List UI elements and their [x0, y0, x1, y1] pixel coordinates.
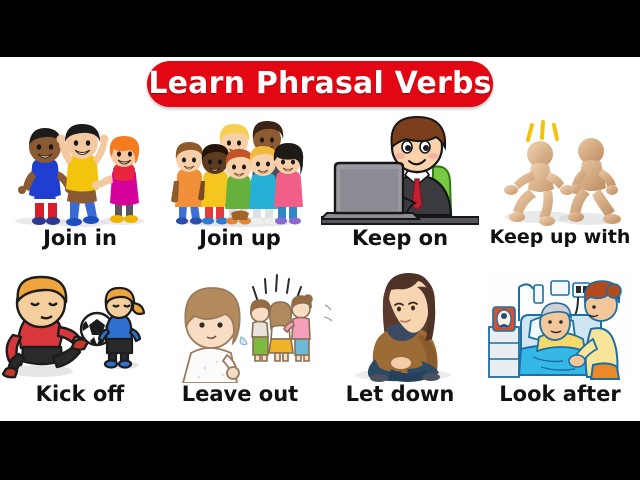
caregiver-patient-illustration	[481, 265, 639, 383]
title-banner: Learn Phrasal Verbs	[147, 61, 493, 107]
letterbox-bottom	[0, 421, 640, 480]
card-leave-out[interactable]: Leave out	[160, 265, 320, 421]
card-label: Keep on	[352, 228, 448, 249]
card-label: Join up	[199, 228, 281, 249]
phrasal-verb-grid: Join in	[0, 109, 640, 421]
two-mannequins-walking-illustration	[481, 109, 639, 227]
poster-canvas: Learn Phrasal Verbs	[0, 57, 640, 421]
card-keep-up-with[interactable]: Keep up with	[480, 109, 640, 265]
card-keep-on[interactable]: Keep on	[320, 109, 480, 265]
card-join-up[interactable]: Join up	[160, 109, 320, 265]
card-join-in[interactable]: Join in	[0, 109, 160, 265]
card-kick-off[interactable]: Kick off	[0, 265, 160, 421]
card-label: Look after	[499, 384, 620, 405]
card-label: Let down	[346, 384, 455, 405]
boy-kicking-ball-illustration	[1, 265, 159, 383]
card-look-after[interactable]: Look after	[480, 265, 640, 421]
card-label: Leave out	[182, 384, 298, 405]
letterbox-top	[0, 0, 640, 57]
poster-stage: Learn Phrasal Verbs	[0, 0, 640, 480]
girl-excluded-illustration	[161, 265, 319, 383]
card-label: Keep up with	[490, 228, 631, 247]
page-title: Learn Phrasal Verbs	[148, 69, 491, 99]
card-label: Kick off	[36, 384, 125, 405]
businessman-laptop-illustration	[321, 109, 479, 227]
three-children-playing-illustration	[1, 109, 159, 227]
sad-girl-sitting-illustration	[321, 265, 479, 383]
card-label: Join in	[43, 228, 117, 249]
group-of-students-illustration	[161, 109, 319, 227]
card-let-down[interactable]: Let down	[320, 265, 480, 421]
